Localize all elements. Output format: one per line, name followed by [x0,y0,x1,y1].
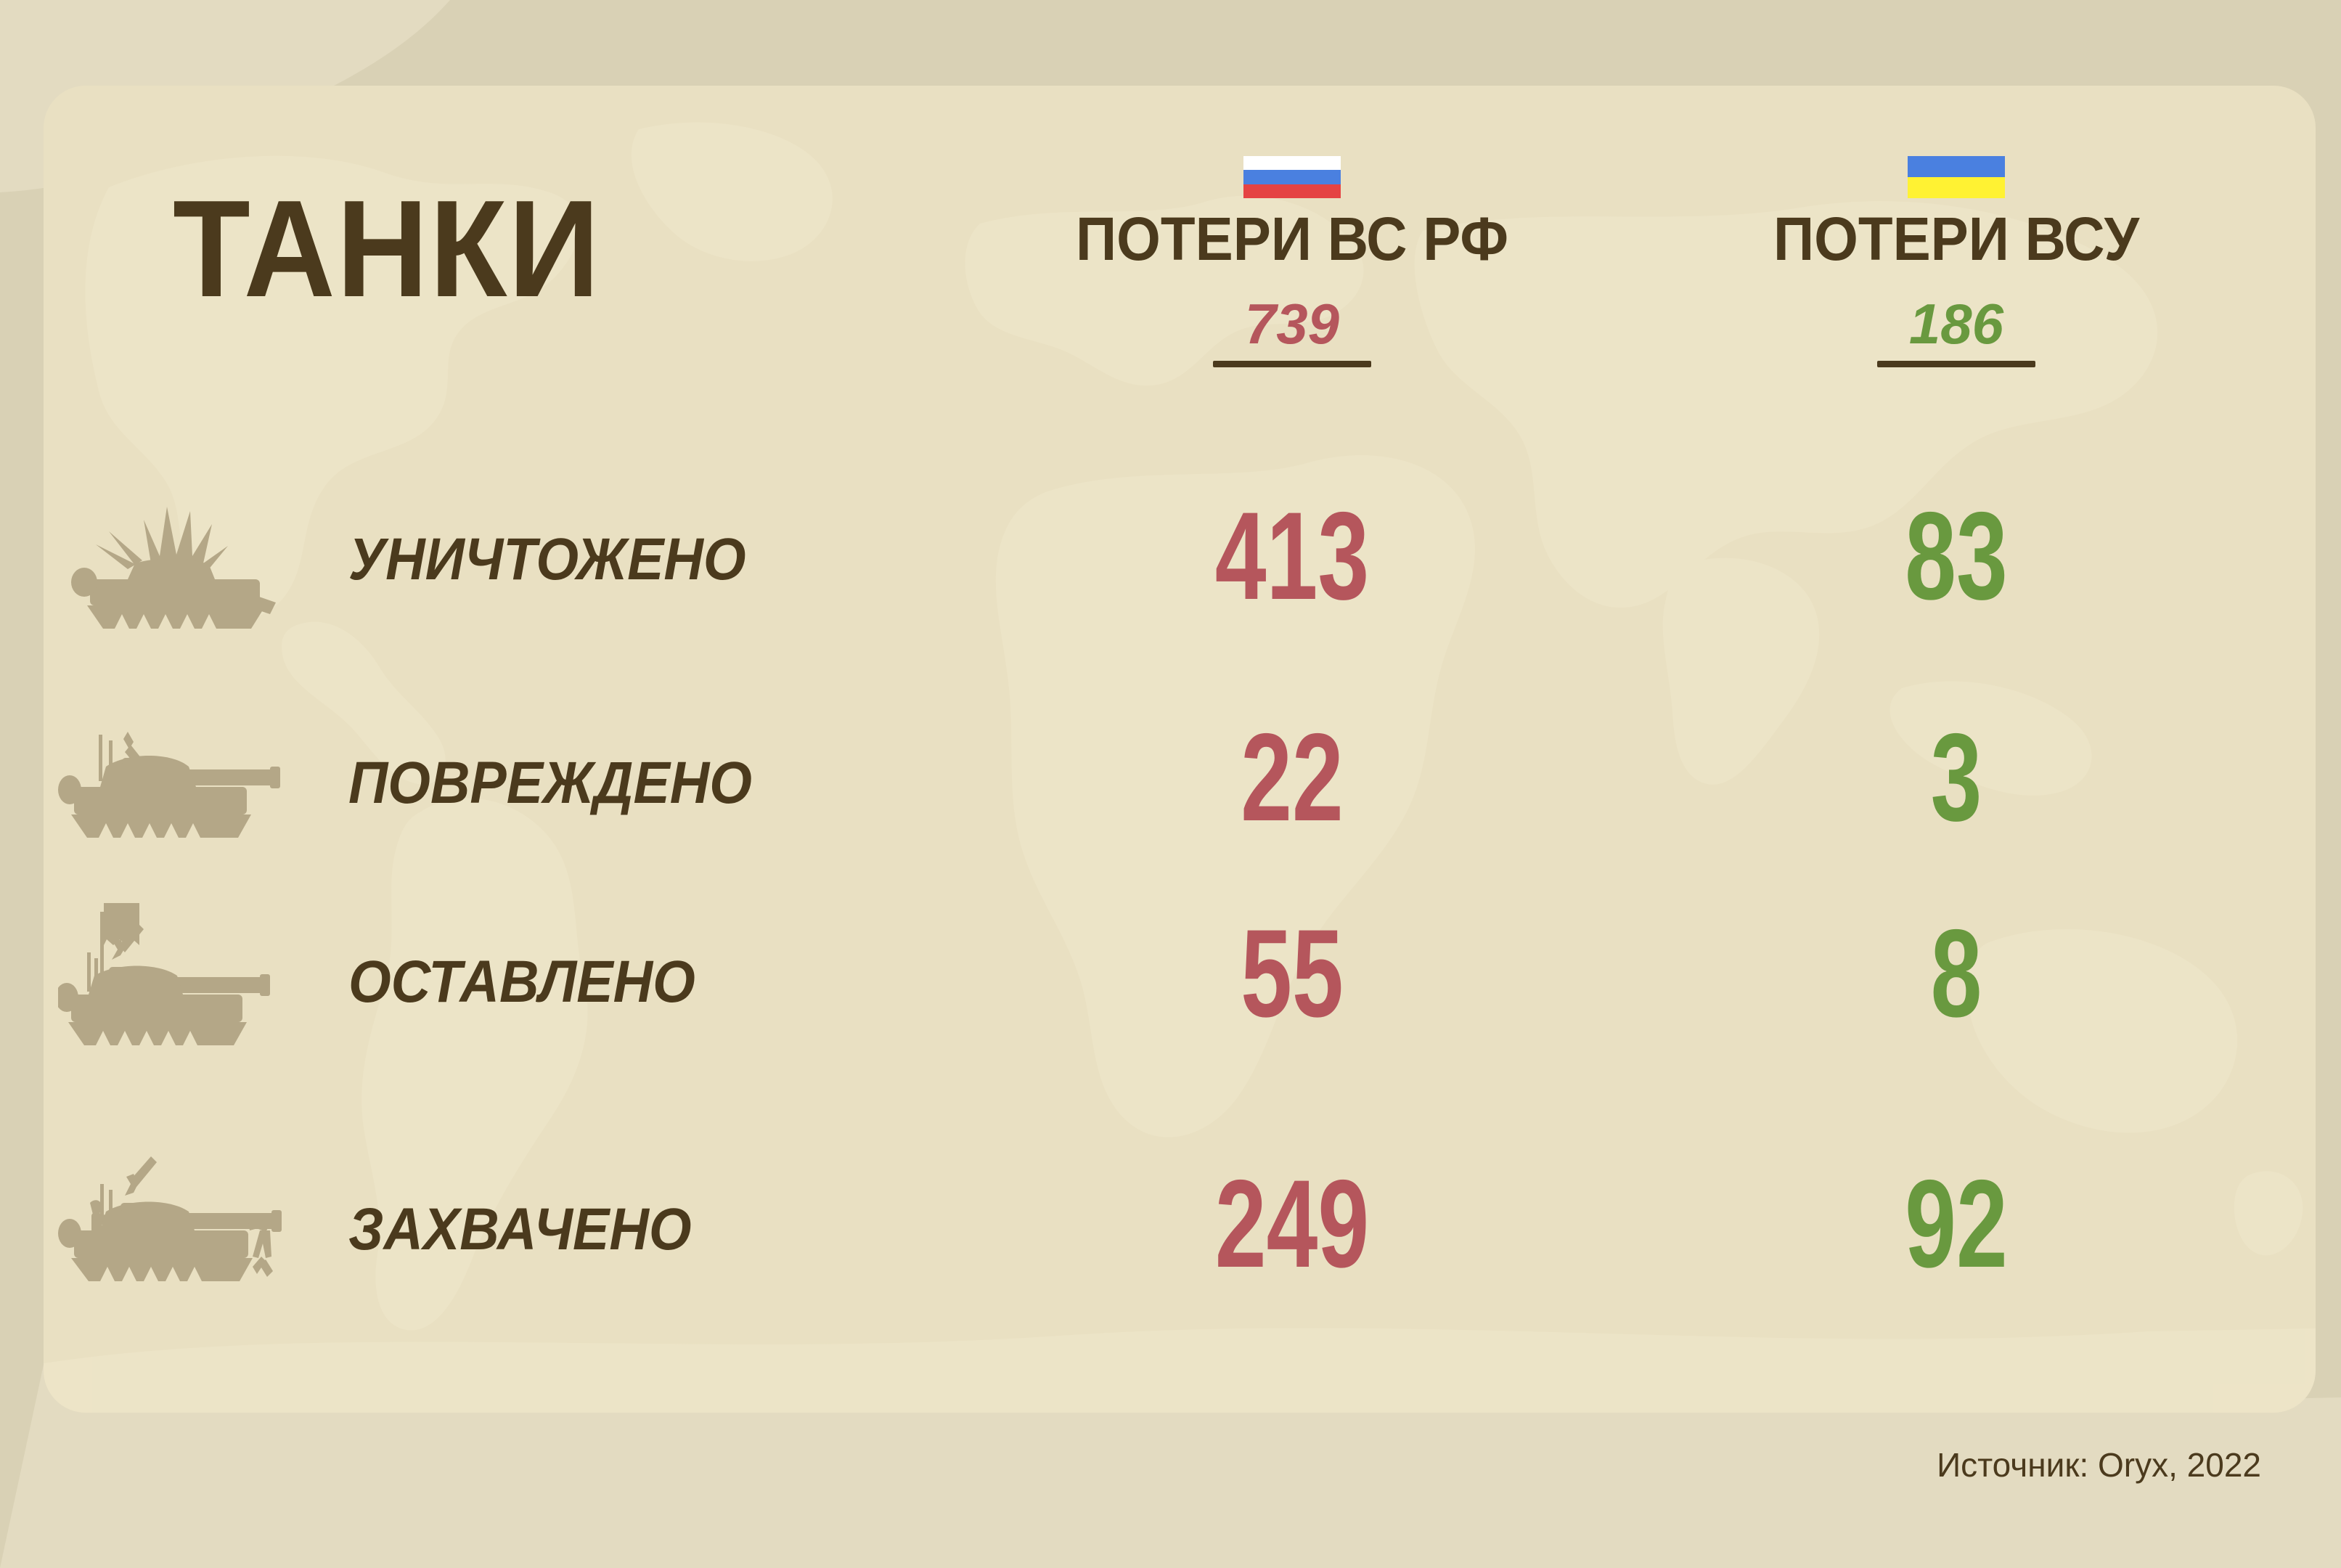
infographic-canvas: ТАНКИ ПОТЕРИ ВС РФ 739 ПОТЕРИ ВСУ 186 [0,0,2341,1568]
ukraine-flag-icon [1908,156,2005,198]
total-russia: 739 [1241,295,1344,361]
total-ukraine-wrap: 186 [1637,269,2276,367]
value-ukraine-destroyed: 83 [1720,494,2192,618]
column-title-russia: ПОТЕРИ ВС РФ [971,208,1613,269]
tank-abandoned-icon [58,878,348,1060]
column-header-russia: ПОТЕРИ ВС РФ 739 [947,156,1637,367]
row-label-damaged: ПОВРЕЖДЕНО [348,754,752,813]
total-russia-underline [1213,361,1371,367]
value-russia-captured: 249 [1037,1161,1548,1286]
value-ukraine-abandoned: 8 [1720,911,2192,1036]
value-russia-abandoned: 55 [1037,911,1548,1036]
column-header-ukraine: ПОТЕРИ ВСУ 186 [1637,156,2276,367]
table-row: УНИЧТОЖЕНО 413 83 [0,465,2341,465]
table-row: ОСТАВЛЕНО 55 8 [0,893,2341,894]
table-row: ЗАХВАЧЕНО 249 92 [0,1129,2341,1130]
value-russia-damaged: 22 [1037,715,1548,840]
table-row: ПОВРЕЖДЕНО 22 3 [0,697,2341,698]
column-title-ukraine: ПОТЕРИ ВСУ [1659,208,2253,269]
total-ukraine-underline [1877,361,2035,367]
source-note: Источник: Oryx, 2022 [1937,1448,2261,1482]
tank-captured-icon [58,1136,348,1296]
total-russia-wrap: 739 [947,269,1637,367]
value-russia-destroyed: 413 [1037,494,1548,618]
russia-flag-icon [1243,156,1341,198]
total-ukraine: 186 [1905,295,2008,361]
row-label-abandoned: ОСТАВЛЕНО [348,952,695,1012]
row-label-captured: ЗАХВАЧЕНО [348,1200,692,1259]
tank-destroyed-icon [58,494,348,639]
tank-damaged-icon [58,711,348,849]
value-ukraine-damaged: 3 [1720,715,2192,840]
value-ukraine-captured: 92 [1720,1161,2192,1286]
page-title: ТАНКИ [173,180,601,318]
row-label-destroyed: УНИЧТОЖЕНО [348,530,746,589]
